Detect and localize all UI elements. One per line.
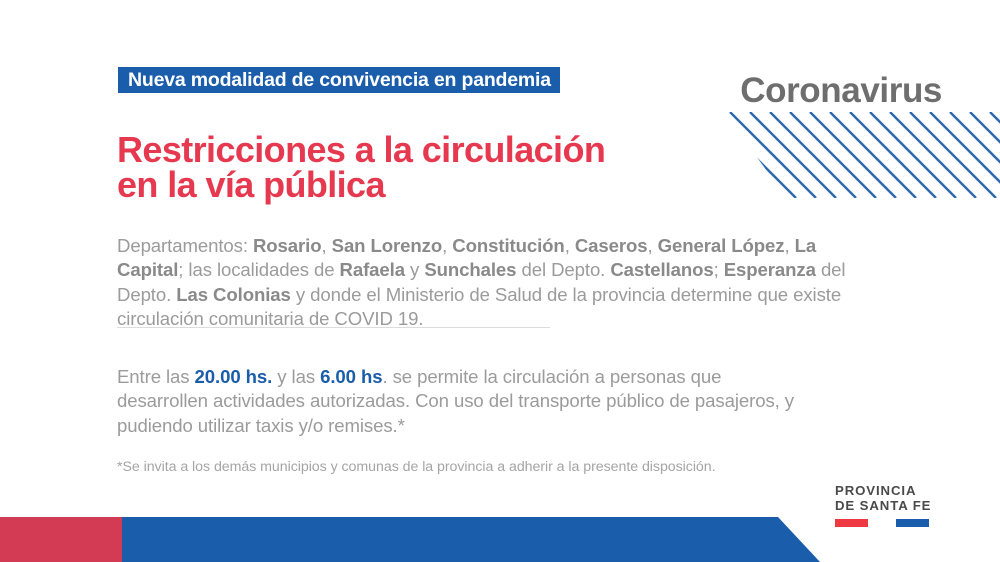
headline-line-2: en la vía pública [117, 167, 757, 202]
dept-castellanos: Castellanos [610, 259, 713, 280]
footnote-text: *Se invita a los demás municipios y comu… [117, 458, 797, 476]
dept-las-colonias: Las Colonias [176, 284, 291, 305]
sep: del Depto. [516, 259, 610, 280]
dept-constitucion: Constitución [452, 235, 564, 256]
locality-sunchales: Sunchales [424, 259, 516, 280]
eyebrow-badge: Nueva modalidad de convivencia en pandem… [118, 67, 560, 93]
sep: , [784, 235, 794, 256]
curfew-start-time: 20.00 hs. [195, 366, 273, 387]
sep: , [322, 235, 332, 256]
footer-svg [0, 517, 1000, 562]
sep: y las [272, 366, 320, 387]
localities-intro: ; las localidades de [178, 259, 339, 280]
sep: , [442, 235, 452, 256]
sep: ; [714, 259, 724, 280]
footer-bar-red [0, 517, 122, 562]
dept-san-lorenzo: San Lorenzo [332, 235, 442, 256]
headline-line-1: Restricciones a la circulación [117, 132, 757, 167]
departments-label: Departamentos: [117, 235, 253, 256]
dept-caseros: Caseros [575, 235, 648, 256]
departments-paragraph: Departamentos: Rosario, San Lorenzo, Con… [117, 234, 847, 332]
section-divider [117, 327, 550, 328]
locality-rafaela: Rafaela [340, 259, 405, 280]
sep: , [648, 235, 658, 256]
locality-esperanza: Esperanza [724, 259, 816, 280]
sep: y [405, 259, 424, 280]
dept-rosario: Rosario [253, 235, 322, 256]
dept-general-lopez: General López [658, 235, 785, 256]
logo-line-1: PROVINCIA [835, 484, 960, 499]
schedule-paragraph: Entre las 20.00 hs. y las 6.00 hs. se pe… [117, 365, 817, 439]
logo-line-2: DE SANTA FE [835, 499, 960, 514]
poster-canvas: Nueva modalidad de convivencia en pandem… [0, 0, 1000, 562]
coronavirus-wordmark: Coronavirus [740, 70, 942, 112]
footer-bar-blue [0, 517, 820, 562]
sep: , [565, 235, 575, 256]
footer-color-bars [0, 517, 1000, 562]
schedule-intro: Entre las [117, 366, 195, 387]
curfew-end-time: 6.00 hs [320, 366, 382, 387]
page-title: Restricciones a la circulación en la vía… [117, 132, 757, 202]
